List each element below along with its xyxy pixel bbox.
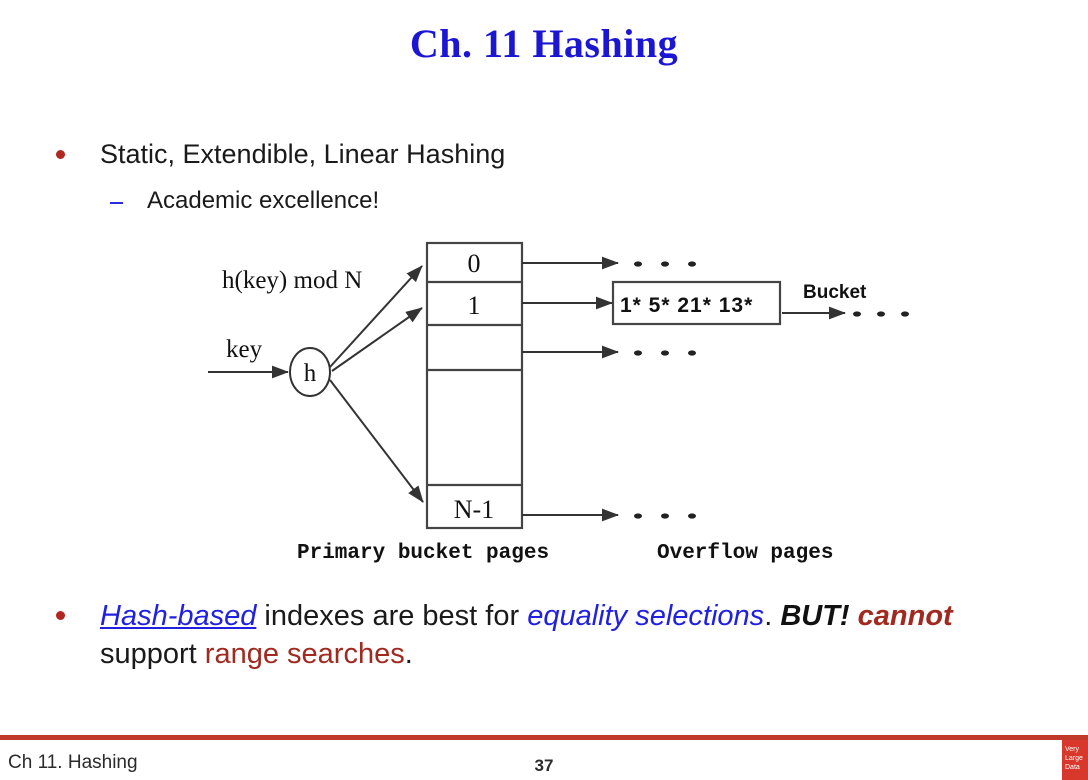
key-label: key bbox=[226, 336, 263, 363]
bullet-2-line2-prefix: support bbox=[100, 638, 205, 670]
bullet-item-2: Hash-based indexes are best for equality… bbox=[56, 597, 1056, 673]
bullet-2-mid-2: . bbox=[764, 600, 780, 632]
dash-bullet-icon bbox=[110, 202, 123, 204]
cannot-emphasis: cannot bbox=[858, 600, 953, 632]
bucket-cell-1: 1 bbox=[468, 291, 481, 320]
bullet-dot-icon bbox=[56, 611, 65, 620]
caption-overflow-pages: Overflow pages bbox=[657, 542, 833, 565]
hash-expression-label: h(key) mod N bbox=[222, 267, 362, 294]
vldb-logo: Very Large Data bbox=[1059, 740, 1088, 780]
bullet-2-mid-1: indexes are best for bbox=[256, 600, 527, 632]
logo-line-1: Very bbox=[1062, 745, 1088, 754]
hash-to-bucket-arrow-1 bbox=[332, 308, 422, 371]
bullet-dot-icon bbox=[56, 150, 65, 159]
equality-selections-term: equality selections bbox=[527, 600, 764, 632]
bullet-item-1: Static, Extendible, Linear Hashing bbox=[56, 138, 505, 171]
bullet-2-line2-suffix: . bbox=[405, 638, 413, 670]
bullet-2-space bbox=[850, 600, 858, 632]
hash-function-label: h bbox=[304, 360, 317, 387]
logo-line-2: Large bbox=[1062, 754, 1088, 763]
overflow-dots-last bbox=[634, 513, 696, 518]
bucket-cell-0: 0 bbox=[468, 249, 481, 278]
bucket-entries-label: 1* 5* 21* 13* bbox=[620, 294, 753, 317]
range-searches-term: range searches bbox=[205, 638, 405, 670]
bullet-item-1-label: Static, Extendible, Linear Hashing bbox=[100, 138, 505, 171]
sub-bullet-item-1: Academic excellence! bbox=[110, 186, 379, 216]
hash-to-bucket-arrow-last bbox=[330, 380, 423, 502]
logo-line-3: Data bbox=[1062, 763, 1088, 772]
page-title: Ch. 11 Hashing bbox=[0, 20, 1088, 67]
bucket-cell-last: N-1 bbox=[454, 495, 494, 524]
bucket-chain-dots bbox=[853, 311, 909, 316]
hash-based-term: Hash-based bbox=[100, 600, 256, 632]
sub-bullet-item-1-label: Academic excellence! bbox=[147, 186, 379, 216]
overflow-dots-2 bbox=[634, 350, 696, 355]
but-emphasis: BUT! bbox=[780, 600, 849, 632]
bucket-callout-label: Bucket bbox=[803, 282, 867, 303]
footer-divider bbox=[0, 735, 1088, 740]
overflow-dots-0 bbox=[634, 261, 696, 266]
caption-primary-bucket-pages: Primary bucket pages bbox=[297, 542, 549, 565]
footer-page-number: 37 bbox=[0, 756, 1088, 776]
hashing-diagram: h h(key) mod N key 0 1 N-1 bbox=[0, 230, 1088, 570]
bullet-item-2-label: Hash-based indexes are best for equality… bbox=[100, 597, 953, 673]
